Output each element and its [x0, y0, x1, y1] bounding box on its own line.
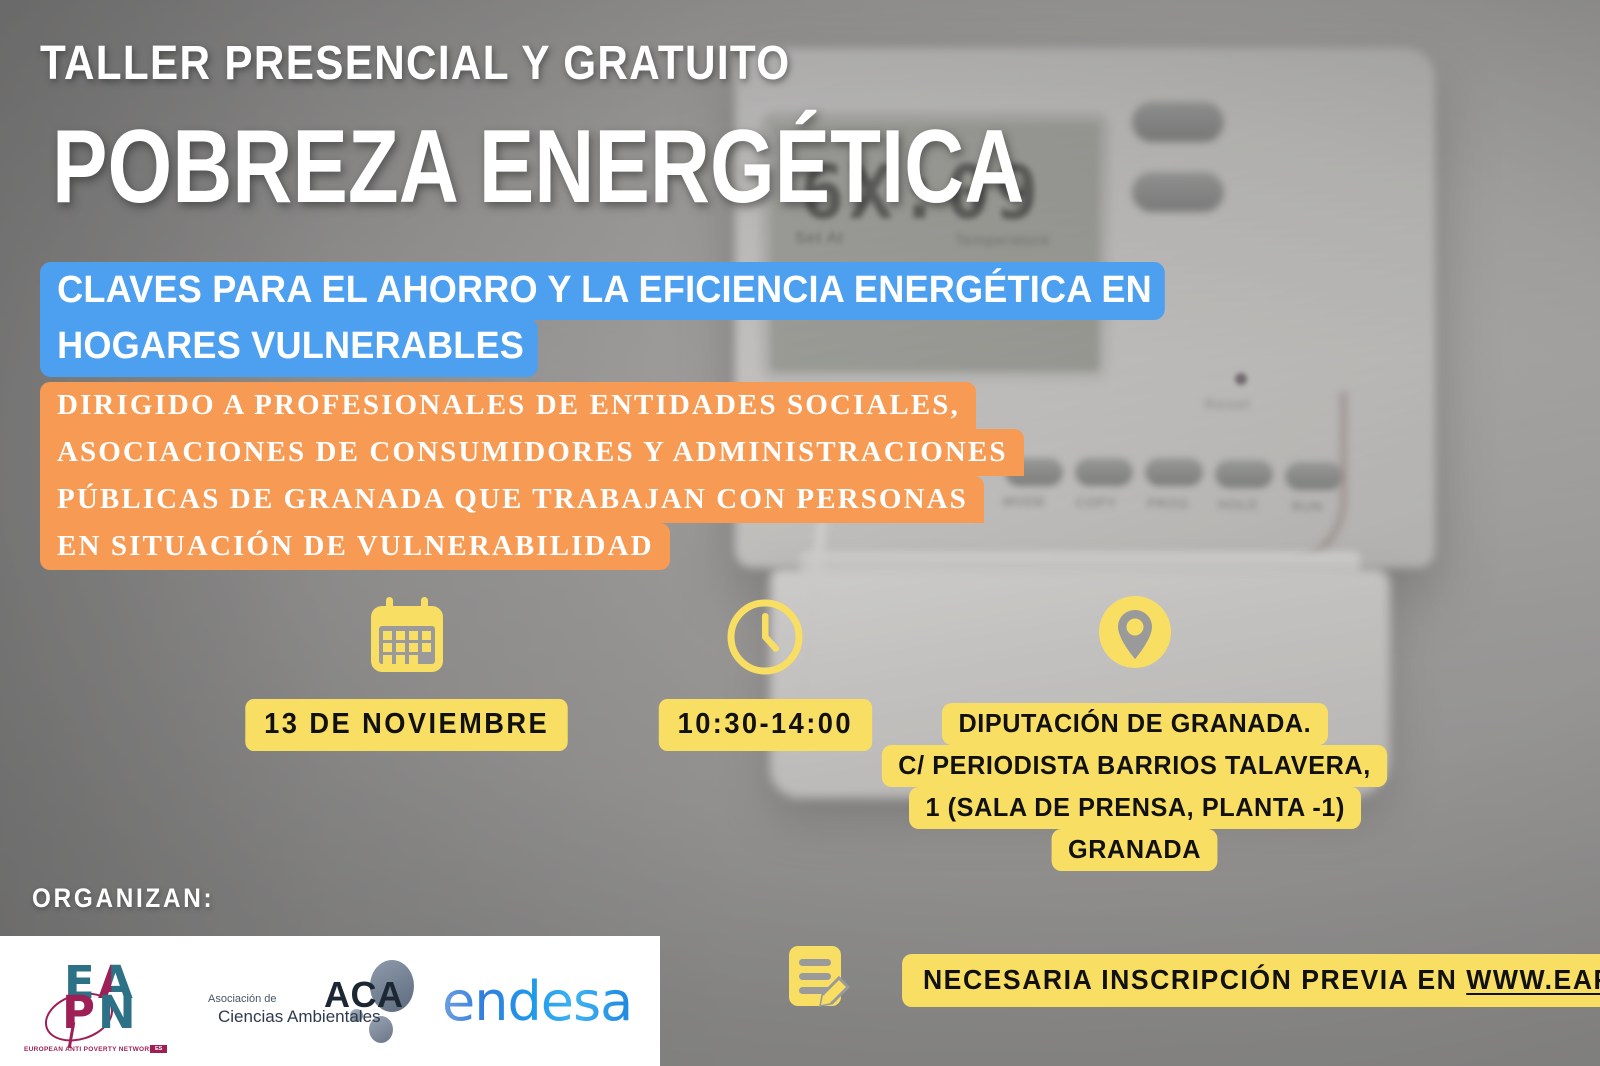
poster-canvas: 6X:09 Set At Temperature MODE COPY PROG … [0, 0, 1600, 1066]
aca-subtitle-line-1: Asociación de [208, 993, 277, 1005]
audience-line-3: PÚBLICAS DE GRANADA QUE TRABAJAN CON PER… [40, 476, 984, 523]
registration-chip[interactable]: NECESARIA INSCRIPCIÓN PREVIA EN WWW.EAPN… [902, 954, 1600, 1007]
event-date-block: 13 DE NOVIEMBRE [277, 596, 537, 751]
registration-text: NECESARIA INSCRIPCIÓN PREVIA EN [923, 964, 1466, 995]
organizer-logos-bar: E A A P N EUROPEAN ANTI POVERTY NETWORK … [0, 936, 660, 1066]
calendar-icon [363, 596, 451, 683]
subtitle-line-2: HOGARES VULNERABLES [40, 318, 537, 376]
event-location-block: DIPUTACIÓN DE GRANADA. C/ PERIODISTA BAR… [935, 596, 1335, 871]
poster-title: POBREZA ENERGÉTICA [52, 118, 1024, 218]
organizers-label: ORGANIZAN: [32, 883, 214, 914]
location-line-1: DIPUTACIÓN DE GRANADA. [942, 703, 1328, 745]
location-line-2: C/ PERIODISTA BARRIOS TALAVERA, [882, 745, 1387, 787]
audience-line-4: EN SITUACIÓN DE VULNERABILIDAD [40, 523, 670, 570]
eapn-letter-n: N [98, 990, 136, 1035]
document-pencil-icon [785, 940, 857, 1021]
eapn-logo: E A A P N EUROPEAN ANTI POVERTY NETWORK … [22, 946, 192, 1056]
eapn-country-tag: ES [150, 1045, 167, 1053]
event-date-value: 13 DE NOVIEMBRE [246, 699, 569, 751]
clock-icon [724, 596, 806, 683]
subtitle-line-1: CLAVES PARA EL AHORRO Y LA EFICIENCIA EN… [40, 262, 1165, 320]
aca-logo: Asociación de Ciencias Ambientales ACA [202, 946, 412, 1056]
location-line-4: GRANADA [1052, 829, 1218, 871]
eapn-caption: EUROPEAN ANTI POVERTY NETWORK [24, 1046, 154, 1053]
event-location-lines: DIPUTACIÓN DE GRANADA. C/ PERIODISTA BAR… [874, 703, 1395, 871]
aca-acronym: ACA [324, 974, 404, 1016]
map-pin-icon [1094, 596, 1176, 687]
registration-url[interactable]: WWW.EAPN.ES [1466, 964, 1600, 995]
registration-block: NECESARIA INSCRIPCIÓN PREVIA EN WWW.EAPN… [785, 940, 1600, 1021]
event-time-block: 10:30-14:00 [645, 596, 885, 751]
endesa-logo: endesa [442, 970, 632, 1033]
event-time-value: 10:30-14:00 [658, 699, 871, 751]
audience-line-1: DIRIGIDO A PROFESIONALES DE ENTIDADES SO… [40, 382, 976, 429]
target-audience-block: DIRIGIDO A PROFESIONALES DE ENTIDADES SO… [40, 382, 1050, 570]
location-line-3: 1 (SALA DE PRENSA, PLANTA -1) [909, 787, 1361, 829]
poster-subtitle: CLAVES PARA EL AHORRO Y LA EFICIENCIA EN… [40, 262, 1090, 377]
poster-kicker: TALLER PRESENCIAL Y GRATUITO [40, 40, 790, 88]
eapn-letter-p: P [62, 990, 95, 1035]
audience-line-2: ASOCIACIONES DE CONSUMIDORES Y ADMINISTR… [40, 429, 1024, 476]
